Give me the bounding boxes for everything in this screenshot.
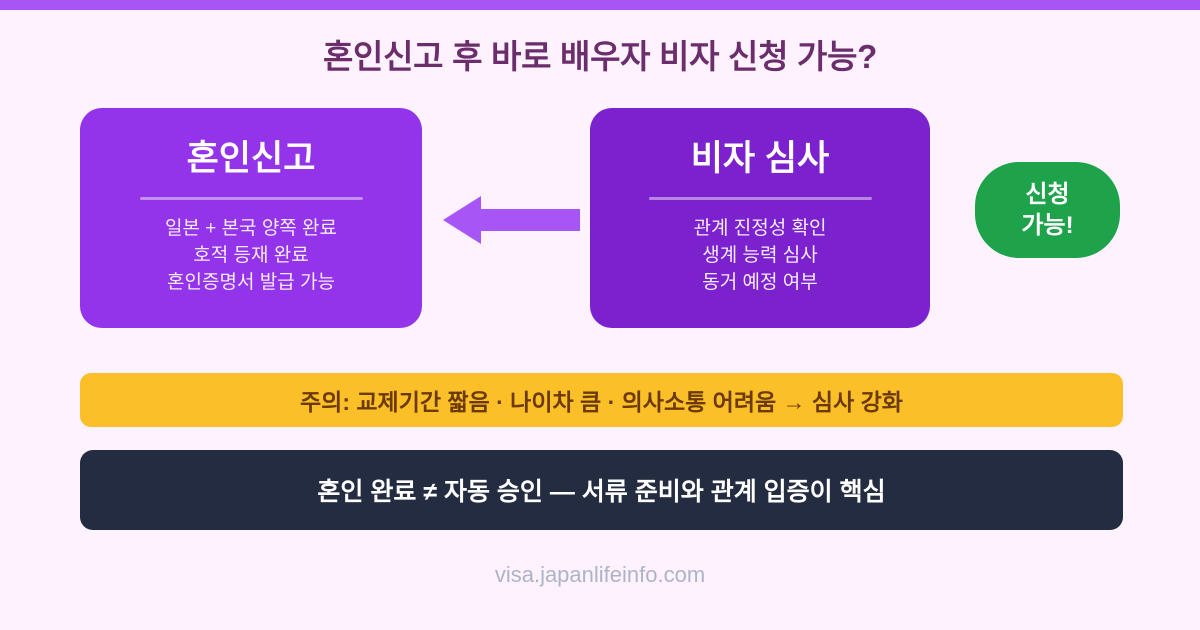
status-badge: 신청 가능!	[975, 162, 1120, 258]
conclusion-bar-text: 혼인 완료 ≠ 자동 승인 — 서류 준비와 관계 입증이 핵심	[317, 472, 885, 508]
card-detail-list-visa-review: 관계 진정성 확인 생계 능력 심사 동거 예정 여부	[694, 215, 827, 296]
status-badge-line: 신청	[1025, 179, 1069, 210]
card-divider	[140, 197, 363, 200]
warning-bar: 주의: 교제기간 짧음 · 나이차 큼 · 의사소통 어려움 → 심사 강화	[80, 373, 1123, 427]
conclusion-bar: 혼인 완료 ≠ 자동 승인 — 서류 준비와 관계 입증이 핵심	[80, 450, 1123, 530]
card-detail-line: 일본 + 본국 양쪽 완료	[165, 215, 337, 242]
card-divider	[649, 197, 872, 200]
warning-bar-text: 주의: 교제기간 짧음 · 나이차 큼 · 의사소통 어려움 → 심사 강화	[300, 383, 903, 417]
card-marriage-registration: 혼인신고 일본 + 본국 양쪽 완료 호적 등재 완료 혼인증명서 발급 가능	[80, 108, 422, 328]
card-title-marriage-registration: 혼인신고	[187, 130, 316, 181]
card-title-visa-review: 비자 심사	[691, 130, 830, 181]
card-detail-line: 호적 등재 완료	[165, 242, 337, 269]
card-detail-line: 관계 진정성 확인	[694, 215, 827, 242]
card-detail-line: 동거 예정 여부	[694, 269, 827, 296]
infographic-canvas: 혼인신고 후 바로 배우자 비자 신청 가능? 혼인신고 일본 + 본국 양쪽 …	[0, 0, 1200, 630]
status-badge-line: 가능!	[1021, 210, 1073, 241]
card-detail-list-marriage-registration: 일본 + 본국 양쪽 완료 호적 등재 완료 혼인증명서 발급 가능	[165, 215, 337, 296]
footer-url: visa.japanlifeinfo.com	[0, 562, 1200, 588]
arrow-left-icon	[443, 194, 580, 246]
page-title: 혼인신고 후 바로 배우자 비자 신청 가능?	[0, 30, 1200, 78]
card-detail-line: 혼인증명서 발급 가능	[165, 269, 337, 296]
top-accent-strip	[0, 0, 1200, 10]
card-detail-line: 생계 능력 심사	[694, 242, 827, 269]
card-visa-review: 비자 심사 관계 진정성 확인 생계 능력 심사 동거 예정 여부	[590, 108, 930, 328]
